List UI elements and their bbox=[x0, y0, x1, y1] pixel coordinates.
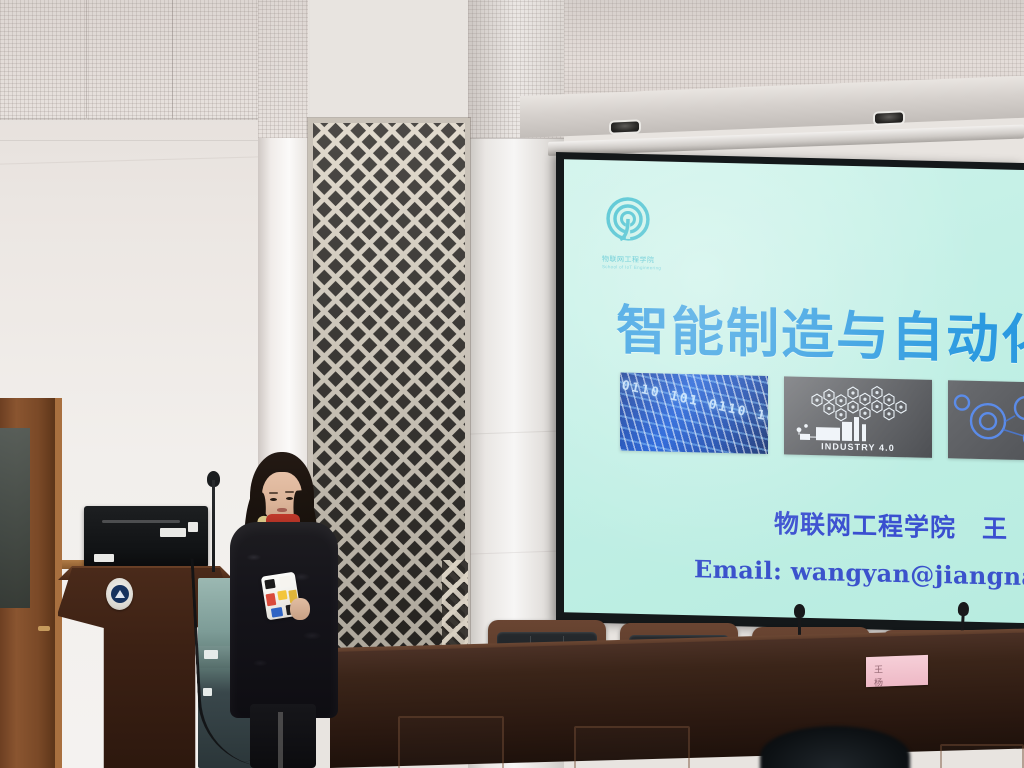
monitor-label bbox=[188, 522, 198, 532]
factory-icon bbox=[796, 413, 874, 443]
leg-gap bbox=[278, 712, 283, 768]
slide-logo: 物联网工程学院 School of IoT Engineering bbox=[602, 194, 668, 266]
mouth bbox=[277, 508, 287, 512]
binary-code-photo bbox=[620, 373, 768, 454]
desk-panel bbox=[398, 716, 504, 768]
spotlight-icon bbox=[875, 112, 903, 123]
wooden-door[interactable] bbox=[0, 398, 62, 768]
presenter-monitor bbox=[84, 506, 208, 568]
gear-circuit-icon bbox=[948, 380, 1024, 461]
acoustic-panel-column bbox=[258, 0, 308, 138]
industry-label: INDUSTRY 4.0 bbox=[784, 440, 932, 453]
presenter bbox=[228, 452, 340, 768]
wall-seam bbox=[172, 0, 173, 118]
wall-seam bbox=[0, 140, 258, 141]
slide-title: 智能制造与自动化学科 bbox=[616, 288, 1024, 377]
presentation-slide: 物联网工程学院 School of IoT Engineering 智能制造与自… bbox=[564, 159, 1024, 623]
lecture-hall-photo: 物联网工程学院 School of IoT Engineering 智能制造与自… bbox=[0, 0, 1024, 768]
slide-department-line: 物联网工程学院 王 bbox=[774, 504, 1008, 546]
spotlight-icon bbox=[611, 121, 639, 132]
iot-spiral-logo-icon bbox=[602, 194, 654, 247]
slide-email-line: Email: wangyan@jiangnan bbox=[694, 554, 1024, 592]
door-glass-panel bbox=[0, 428, 30, 608]
projection-screen: 物联网工程学院 School of IoT Engineering 智能制造与自… bbox=[556, 152, 1024, 633]
hand bbox=[290, 598, 310, 620]
jiangnan-university-emblem-icon bbox=[106, 578, 133, 610]
wall-seam bbox=[0, 118, 258, 119]
pink-name-card: 王 杨 bbox=[866, 655, 928, 687]
industry-network-photo: INDUSTRY 4.0 bbox=[784, 376, 932, 457]
desk-panel bbox=[940, 744, 1024, 768]
slide-logo-text-en: School of IoT Engineering bbox=[602, 264, 668, 271]
wall-seam bbox=[468, 138, 564, 139]
legs bbox=[250, 704, 316, 768]
name-card-text: 王 杨 bbox=[874, 661, 928, 687]
monitor-label bbox=[94, 554, 114, 562]
black-fur-coat bbox=[230, 522, 338, 718]
acoustic-panel-left bbox=[0, 0, 258, 120]
gears-circuit-photo bbox=[948, 380, 1024, 461]
monitor-label bbox=[160, 528, 186, 537]
wall-seam bbox=[86, 0, 87, 118]
door-handle[interactable] bbox=[38, 626, 50, 631]
desk-panel bbox=[574, 726, 690, 768]
slide-image-strip: INDUSTRY 4.0 bbox=[620, 373, 1024, 462]
